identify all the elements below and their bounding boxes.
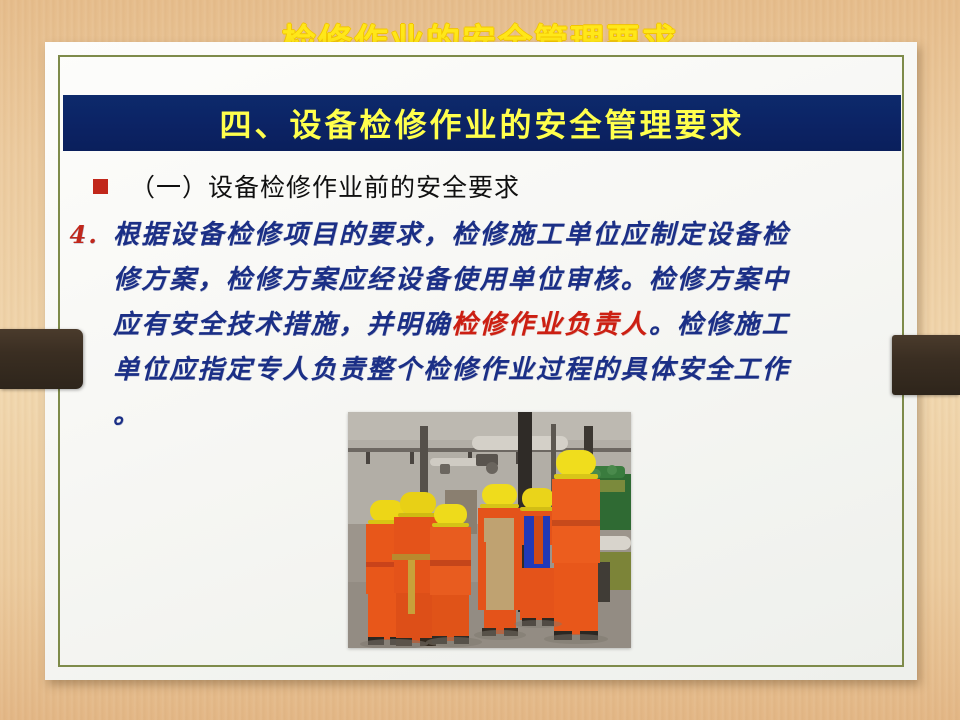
section-banner: 四、设备检修作业的安全管理要求 <box>63 95 901 151</box>
subheading-row: （一）设备检修作业前的安全要求 <box>55 164 895 208</box>
workers-photo <box>348 412 631 648</box>
body-text-run: 。 <box>113 394 141 431</box>
section-banner-title: 四、设备检修作业的安全管理要求 <box>219 100 744 146</box>
body-line: 修方案，检修方案应经设备使用单位审核。检修方案中 <box>67 259 927 304</box>
body-text-run: 单位应指定专人负责整个检修作业过程的具体安全工作 <box>113 349 790 386</box>
workers-photo-graphic <box>348 412 631 648</box>
square-bullet-icon <box>93 179 108 194</box>
body-text-block: 4.根据设备检修项目的要求，检修施工单位应制定设备检修方案，检修方案应经设备使用… <box>67 214 927 439</box>
body-text-highlight: 检修作业负责人 <box>451 304 648 341</box>
body-line: 4.根据设备检修项目的要求，检修施工单位应制定设备检 <box>67 214 927 259</box>
body-text-run: 根据设备检修项目的要求，检修施工单位应制定设备检 <box>113 214 790 251</box>
body-line: 单位应指定专人负责整个检修作业过程的具体安全工作 <box>67 349 927 394</box>
body-list-number: 4. <box>67 220 113 249</box>
ribbon-band-left <box>0 329 83 389</box>
body-line: 应有安全技术措施，并明确检修作业负责人。检修施工 <box>67 304 927 349</box>
body-text-run: 应有安全技术措施，并明确 <box>113 304 451 341</box>
subheading-text: （一）设备检修作业前的安全要求 <box>130 168 520 204</box>
slide-root: 检修作业的安全管理要求 四、设备检修作业的安全管理要求 （一）设备检修作业前的安… <box>0 0 960 720</box>
body-text-run: 。检修施工 <box>649 304 790 341</box>
ribbon-band-right <box>892 335 960 395</box>
body-text-run: 修方案，检修方案应经设备使用单位审核。检修方案中 <box>113 259 790 296</box>
